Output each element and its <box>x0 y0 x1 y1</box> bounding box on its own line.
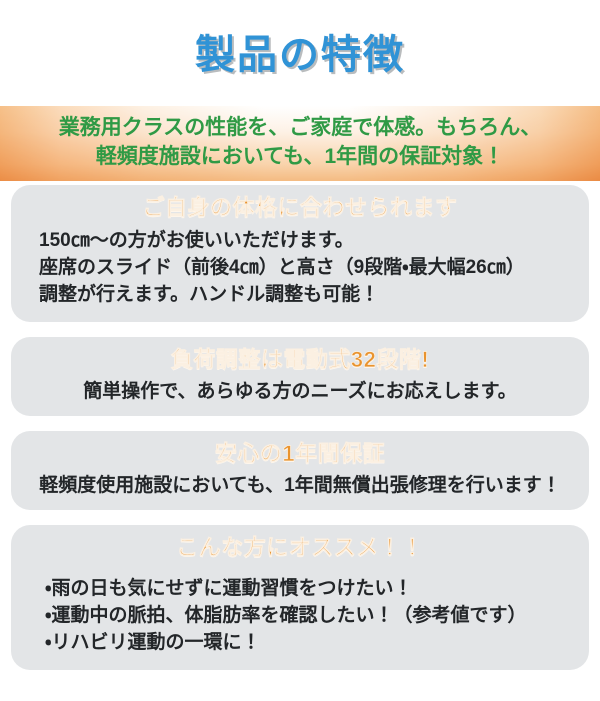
card-body-line: 調整が行えます。ハンドル調整も可能！ <box>39 281 589 308</box>
page-title: 製品の特徴 <box>0 27 600 79</box>
card-body: 簡単操作で、あらゆる方のニーズにお応えします。 <box>11 378 589 405</box>
lead-line-2: 軽頻度施設においても、1年間の保証対象！ <box>0 142 600 172</box>
card-body-line: ・雨の日も気にせずに運動習慣をつけたい！ <box>45 575 589 602</box>
card-body-line: ・リハビリ運動の一環に！ <box>45 629 589 656</box>
card-heading: ご自身の体格に合わせられます <box>11 193 589 223</box>
lead-banner: 業務用クラスの性能を、ご家庭で体感。もちろん、 軽頻度施設においても、1年間の保… <box>0 106 600 182</box>
lead-line-1: 業務用クラスの性能を、ご家庭で体感。もちろん、 <box>0 113 600 143</box>
feature-card-recommended-for: こんな方にオススメ！！ ・雨の日も気にせずに運動習慣をつけたい！ ・運動中の脈拍… <box>11 525 589 670</box>
feature-card-resistance-levels: 負荷調整は電動式32段階! 簡単操作で、あらゆる方のニーズにお応えします。 <box>11 337 589 416</box>
product-features-page: { "title": "製品の特徴", "lead": { "lines": [… <box>0 27 600 701</box>
card-body-line: 簡単操作で、あらゆる方のニーズにお応えします。 <box>11 378 589 405</box>
card-body-line: 150㎝～の方がお使いいただけます。 <box>39 227 589 254</box>
card-body-line: ・運動中の脈拍、体脂肪率を確認したい！（参考値です） <box>45 602 589 629</box>
card-body-line: 軽頻度使用施設においても、1年間無償出張修理を行います！ <box>11 472 589 499</box>
card-body: 軽頻度使用施設においても、1年間無償出張修理を行います！ <box>11 472 589 499</box>
card-body: 150㎝～の方がお使いいただけます。 座席のスライド（前後4㎝）と高さ（9段階・… <box>11 227 589 308</box>
card-heading: 安心の1年間保証 <box>11 439 589 469</box>
card-body: ・雨の日も気にせずに運動習慣をつけたい！ ・運動中の脈拍、体脂肪率を確認したい！… <box>11 575 589 656</box>
feature-card-warranty: 安心の1年間保証 軽頻度使用施設においても、1年間無償出張修理を行います！ <box>11 431 589 510</box>
feature-card-body-fit: ご自身の体格に合わせられます 150㎝～の方がお使いいただけます。 座席のスライ… <box>11 185 589 322</box>
card-body-line: 座席のスライド（前後4㎝）と高さ（9段階・最大幅26㎝） <box>39 254 589 281</box>
feature-card-list: ご自身の体格に合わせられます 150㎝～の方がお使いいただけます。 座席のスライ… <box>0 181 600 670</box>
card-heading: 負荷調整は電動式32段階! <box>11 345 589 375</box>
card-heading: こんな方にオススメ！！ <box>11 533 589 563</box>
